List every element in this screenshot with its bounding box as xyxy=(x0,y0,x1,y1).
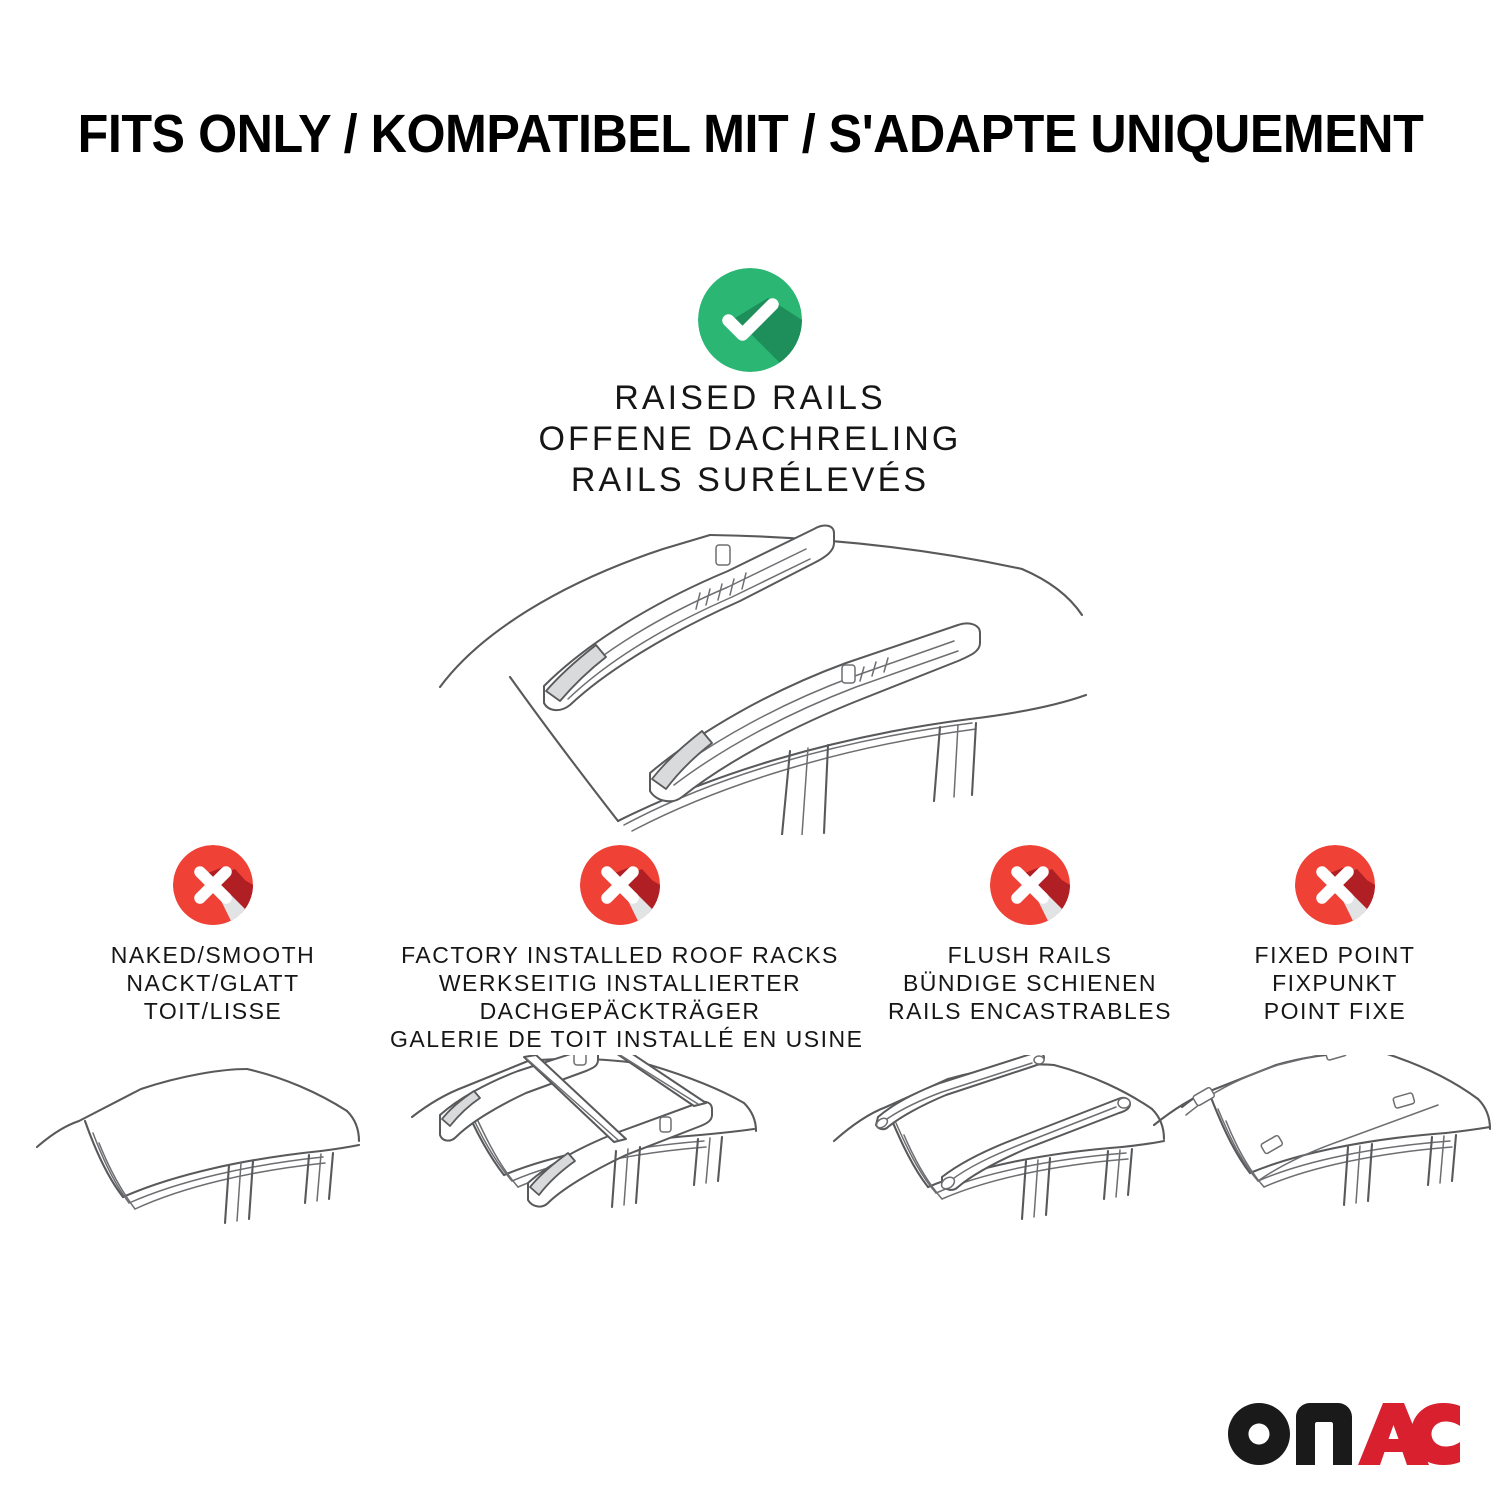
label-fr: TOIT/LISSE xyxy=(13,997,413,1025)
page-title-text: FITS ONLY / KOMPATIBEL MIT / S'ADAPTE UN… xyxy=(77,104,1423,164)
omac-logo xyxy=(1228,1403,1460,1465)
label-en: FIXED POINT xyxy=(1170,941,1500,969)
label-en: NAKED/SMOOTH xyxy=(13,941,413,969)
car-roof-fixed-point-illustration xyxy=(1150,1055,1500,1275)
label-de-2: DACHGEPÄCKTRÄGER xyxy=(390,997,850,1025)
incompatible-labels-naked-smooth: NAKED/SMOOTH NACKT/GLATT TOIT/LISSE xyxy=(13,941,413,1025)
car-roof-naked-smooth-illustration xyxy=(33,1055,373,1275)
cross-circle-icon xyxy=(990,845,1070,925)
cross-circle-icon xyxy=(580,845,660,925)
compatible-labels: RAISED RAILS OFFENE DACHRELING RAILS SUR… xyxy=(350,378,1150,501)
label-fr: POINT FIXE xyxy=(1170,997,1500,1025)
label-en: FACTORY INSTALLED ROOF RACKS xyxy=(390,941,850,969)
label-de: FIXPUNKT xyxy=(1170,969,1500,997)
incompatible-labels-factory-racks: FACTORY INSTALLED ROOF RACKS WERKSEITIG … xyxy=(390,941,850,1053)
car-roof-with-raised-rails-illustration xyxy=(410,505,1100,835)
label-de-1: WERKSEITIG INSTALLIERTER xyxy=(390,969,850,997)
cross-circle-icon xyxy=(173,845,253,925)
label-de: NACKT/GLATT xyxy=(13,969,413,997)
page-title: FITS ONLY / KOMPATIBEL MIT / S'ADAPTE UN… xyxy=(0,104,1500,164)
cross-circle-icon xyxy=(1295,845,1375,925)
incompatible-labels-fixed-point: FIXED POINT FIXPUNKT POINT FIXE xyxy=(1170,941,1500,1025)
compatible-label-de: OFFENE DACHRELING xyxy=(350,419,1150,460)
label-fr: GALERIE DE TOIT INSTALLÉ EN USINE xyxy=(390,1025,850,1053)
compatible-label-fr: RAILS SURÉLEVÉS xyxy=(350,460,1150,501)
compatible-label-en: RAISED RAILS xyxy=(350,378,1150,419)
check-circle-icon xyxy=(698,268,802,372)
car-roof-factory-installed-racks-illustration xyxy=(400,1055,770,1275)
